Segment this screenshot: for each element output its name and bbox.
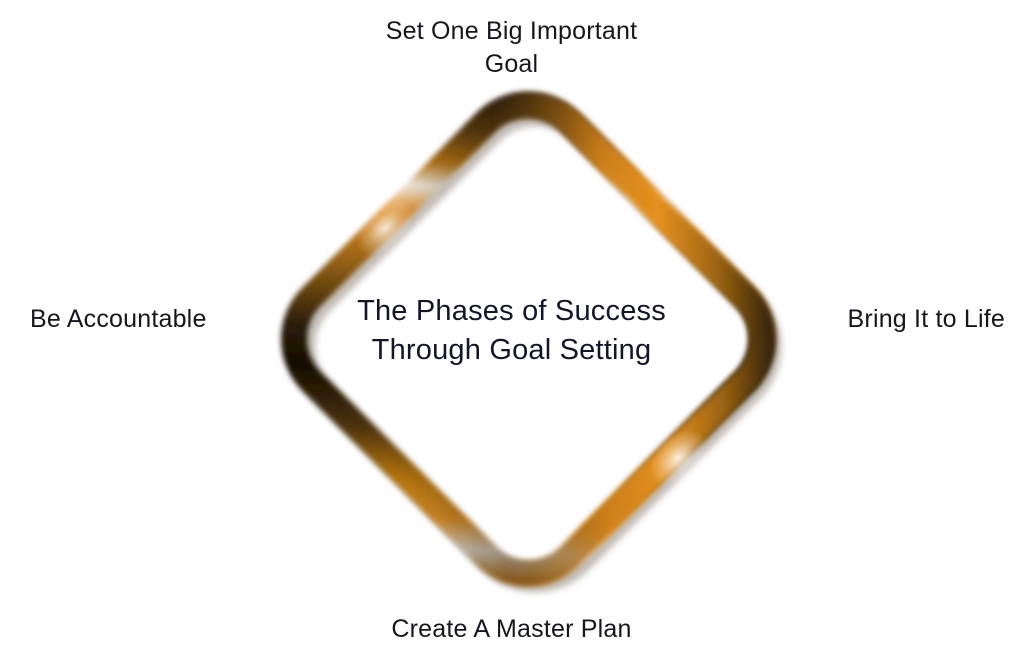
center-title: The Phases of Success Through Goal Setti…: [297, 292, 727, 370]
phase-label-right: Bring It to Life: [848, 303, 1005, 336]
phase-label-left: Be Accountable: [30, 303, 207, 336]
glint-upper-left: [345, 188, 424, 267]
glint-lower-right: [638, 418, 717, 497]
phase-label-bottom: Create A Master Plan: [262, 613, 762, 646]
phase-label-top: Set One Big Important Goal: [302, 15, 722, 82]
diagram-canvas: The Phases of Success Through Goal Setti…: [0, 0, 1023, 664]
